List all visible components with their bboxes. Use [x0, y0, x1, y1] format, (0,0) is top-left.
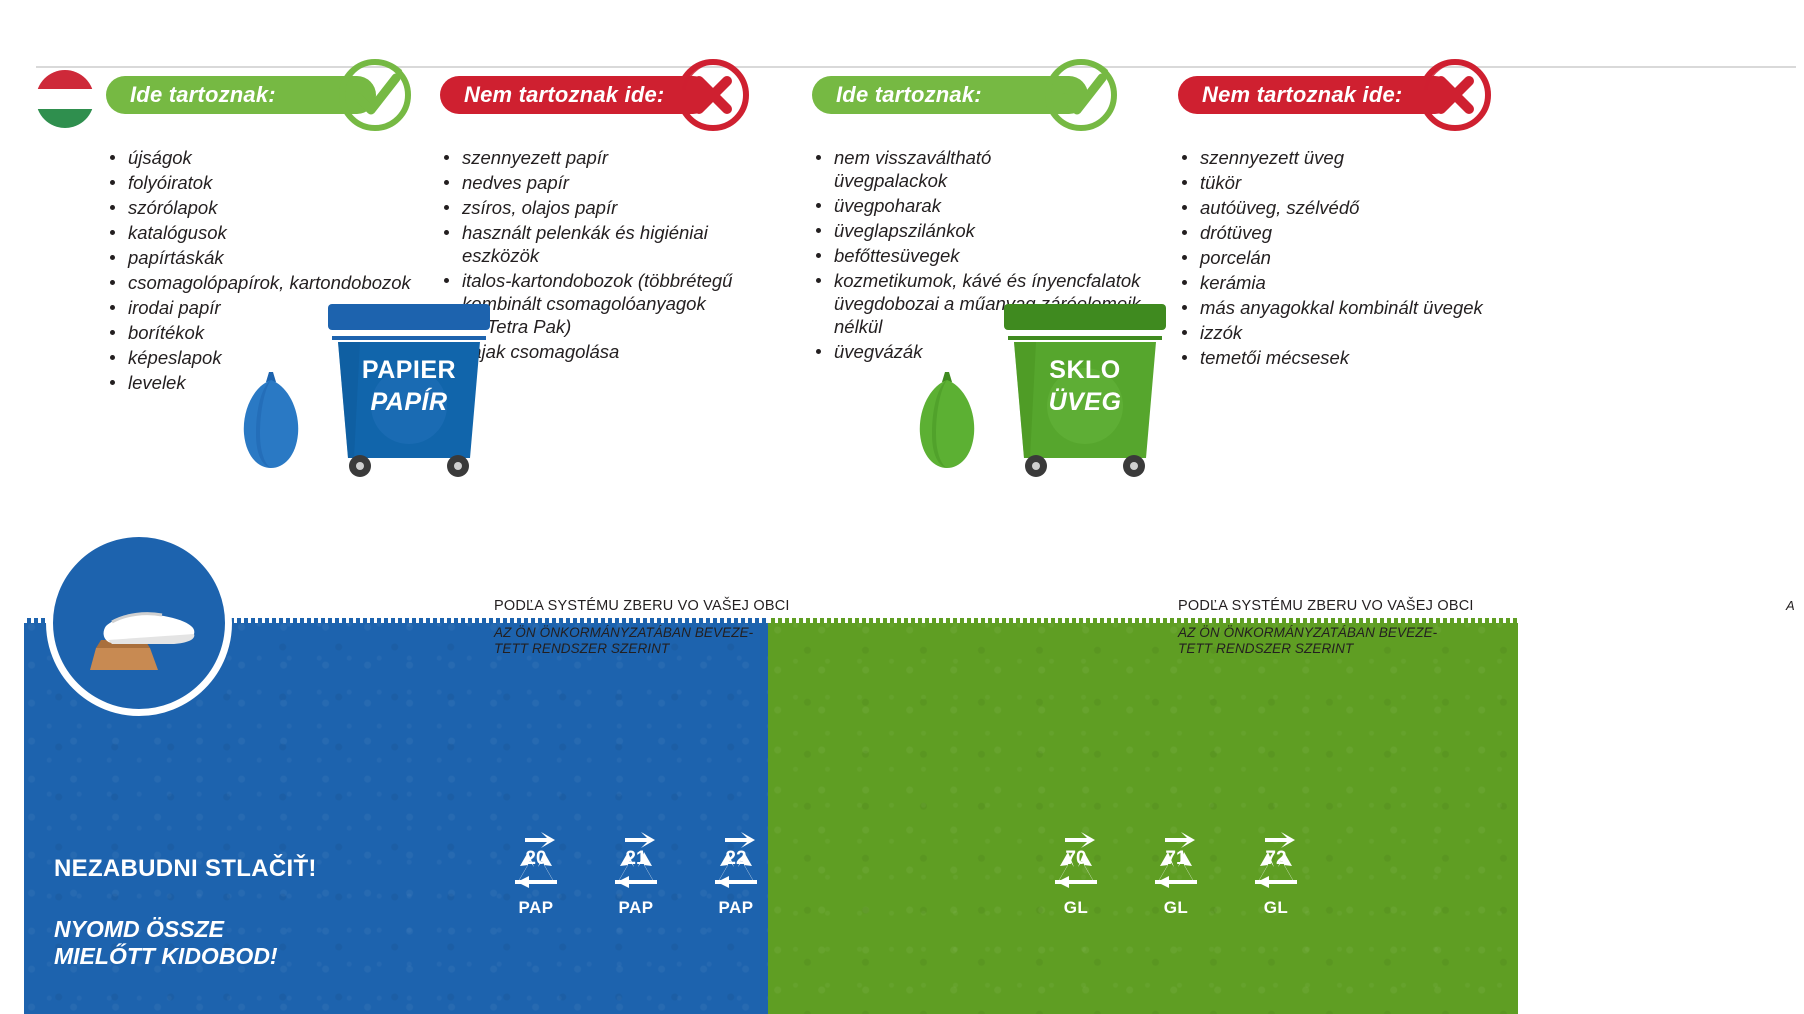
list-item: katalógusok	[106, 221, 436, 244]
list-item: temetői mécsesek	[1178, 346, 1508, 369]
caption-sk: PODĽA SYSTÉMU ZBERU VO VAŠEJ OBCI	[1178, 598, 1474, 614]
cross-circle-icon	[1414, 54, 1496, 136]
code-material: PAP	[695, 898, 777, 918]
code-number: 22	[695, 848, 777, 870]
list-item: befőttesüvegek	[812, 244, 1152, 267]
code-material: GL	[1235, 898, 1317, 918]
list-item: porcelán	[1178, 246, 1508, 269]
code-number: 20	[495, 848, 577, 870]
list-item: szórólapok	[106, 196, 436, 219]
list-item: üveglapszilánkok	[812, 219, 1152, 242]
list-item: autóüveg, szélvédő	[1178, 196, 1508, 219]
column-heading-label: Nem tartoznak ide:	[1202, 82, 1402, 108]
list-item: szennyezett üveg	[1178, 146, 1508, 169]
glass-bag-icon	[912, 364, 982, 474]
paper-bin-caption: PODĽA SYSTÉMU ZBERU VO VAŠEJ OBCI AZ ÖN …	[494, 598, 790, 657]
list-item: csomagolópapírok, kartondobozok	[106, 271, 436, 294]
recycling-code: 70 GL	[1035, 828, 1117, 918]
list-item: üvegpoharak	[812, 194, 1152, 217]
list-item: izzók	[1178, 321, 1508, 344]
list-item: drótüveg	[1178, 221, 1508, 244]
check-circle-icon	[334, 54, 416, 136]
list-item: papírtáskák	[106, 246, 436, 269]
list-item: használt pelenkák és higiéniai eszközök	[440, 221, 760, 267]
list-item: kerámia	[1178, 271, 1508, 294]
list-item: zsíros, olajos papír	[440, 196, 760, 219]
code-material: PAP	[495, 898, 577, 918]
list-column-glass-rejected: Nem tartoznak ide: szennyezett üveg tükö…	[1178, 76, 1508, 371]
header-divider	[36, 66, 1796, 68]
crush-slogan: NEZABUDNI STLAČIŤ! NYOMD ÖSSZE MIELŐTT K…	[54, 855, 317, 970]
recycling-code: 22 PAP	[695, 828, 777, 918]
recycling-code: 20 PAP	[495, 828, 577, 918]
code-material: PAP	[595, 898, 677, 918]
list-item: nem visszaváltható üvegpalackok	[812, 146, 1152, 192]
code-number: 21	[595, 848, 677, 870]
recycling-code: 71 GL	[1135, 828, 1217, 918]
column-heading-label: Ide tartoznak:	[836, 82, 982, 108]
rejected-items-list: szennyezett üveg tükör autóüveg, szélvéd…	[1178, 146, 1508, 369]
cross-circle-icon	[672, 54, 754, 136]
list-item: nedves papír	[440, 171, 760, 194]
crush-illustration-badge	[46, 530, 232, 716]
caption-hu: AZ ÖN ÖNKORMÁNYZATÁBAN BEVEZE- TETT REND…	[1178, 625, 1474, 657]
ground-band-glass	[768, 618, 1518, 1014]
paper-bag-icon	[236, 364, 306, 474]
recycling-code: 72 GL	[1235, 828, 1317, 918]
code-material: GL	[1035, 898, 1117, 918]
column-heading-banner: Nem tartoznak ide:	[1178, 76, 1454, 114]
caption-sk: PODĽA SYSTÉMU ZBERU VO VAŠEJ OBCI	[494, 598, 790, 614]
glass-wheelie-bin-icon: SKLO ÜVEG	[996, 302, 1174, 480]
shoe-crushing-box-icon	[46, 530, 232, 716]
recycling-codes-glass: 70 GL 71 GL 72 GL	[1035, 828, 1317, 918]
list-item: szennyezett papír	[440, 146, 760, 169]
code-number: 71	[1135, 848, 1217, 870]
code-number: 72	[1235, 848, 1317, 870]
slogan-hu: NYOMD ÖSSZE MIELŐTT KIDOBOD!	[54, 916, 317, 970]
code-number: 70	[1035, 848, 1117, 870]
list-item: tükör	[1178, 171, 1508, 194]
caption-hu: AZ ÖN ÖNKORMÁNYZATÁBAN BEVEZE- TETT REND…	[494, 625, 790, 657]
column-heading-label: Ide tartoznak:	[130, 82, 276, 108]
list-item: más anyagokkal kombinált üvegek	[1178, 296, 1508, 319]
glass-bin-caption: PODĽA SYSTÉMU ZBERU VO VAŠEJ OBCI AZ ÖN …	[1178, 598, 1474, 657]
list-item: újságok	[106, 146, 436, 169]
recycling-codes-paper: 20 PAP 21 PAP 22 PAP	[495, 828, 777, 918]
paper-wheelie-bin-icon: PAPIER PAPÍR	[320, 302, 498, 480]
list-item: folyóiratok	[106, 171, 436, 194]
slogan-sk: NEZABUDNI STLAČIŤ!	[54, 855, 317, 883]
column-heading-label: Nem tartoznak ide:	[464, 82, 664, 108]
stray-mark: A	[1786, 598, 1795, 613]
hungarian-flag-roundel-icon	[36, 70, 94, 128]
code-material: GL	[1135, 898, 1217, 918]
recycling-code: 21 PAP	[595, 828, 677, 918]
check-circle-icon	[1040, 54, 1122, 136]
